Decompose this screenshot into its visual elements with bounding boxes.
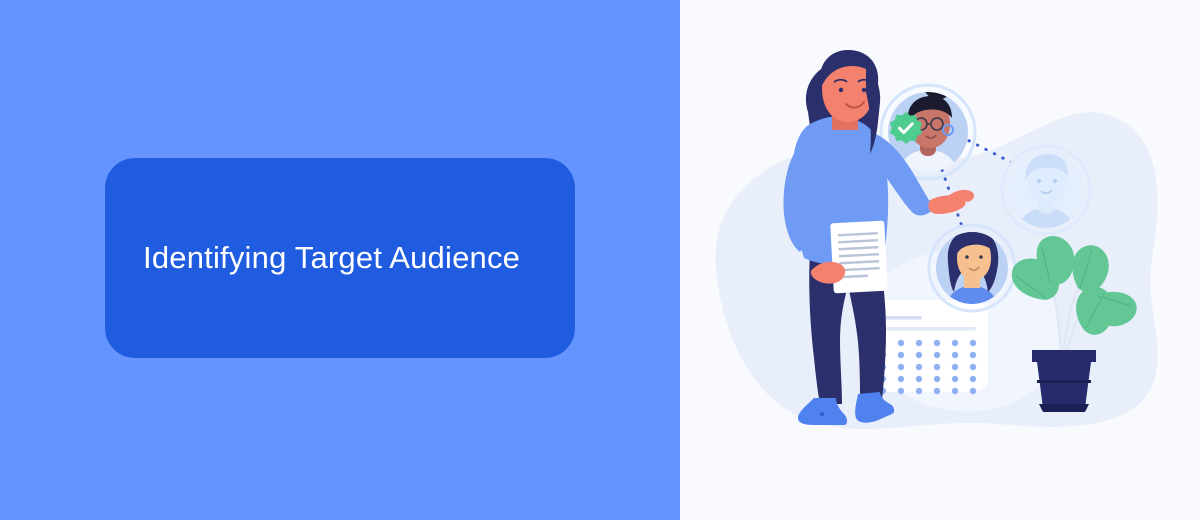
held-document	[830, 221, 888, 294]
title-card[interactable]: Identifying Target Audience	[105, 158, 575, 358]
left-panel: Identifying Target Audience	[0, 0, 680, 520]
right-panel	[680, 0, 1200, 520]
page-title: Identifying Target Audience	[105, 239, 544, 276]
screenshot-root: Identifying Target Audience	[0, 0, 1200, 520]
target-audience-illustration	[680, 0, 1200, 520]
